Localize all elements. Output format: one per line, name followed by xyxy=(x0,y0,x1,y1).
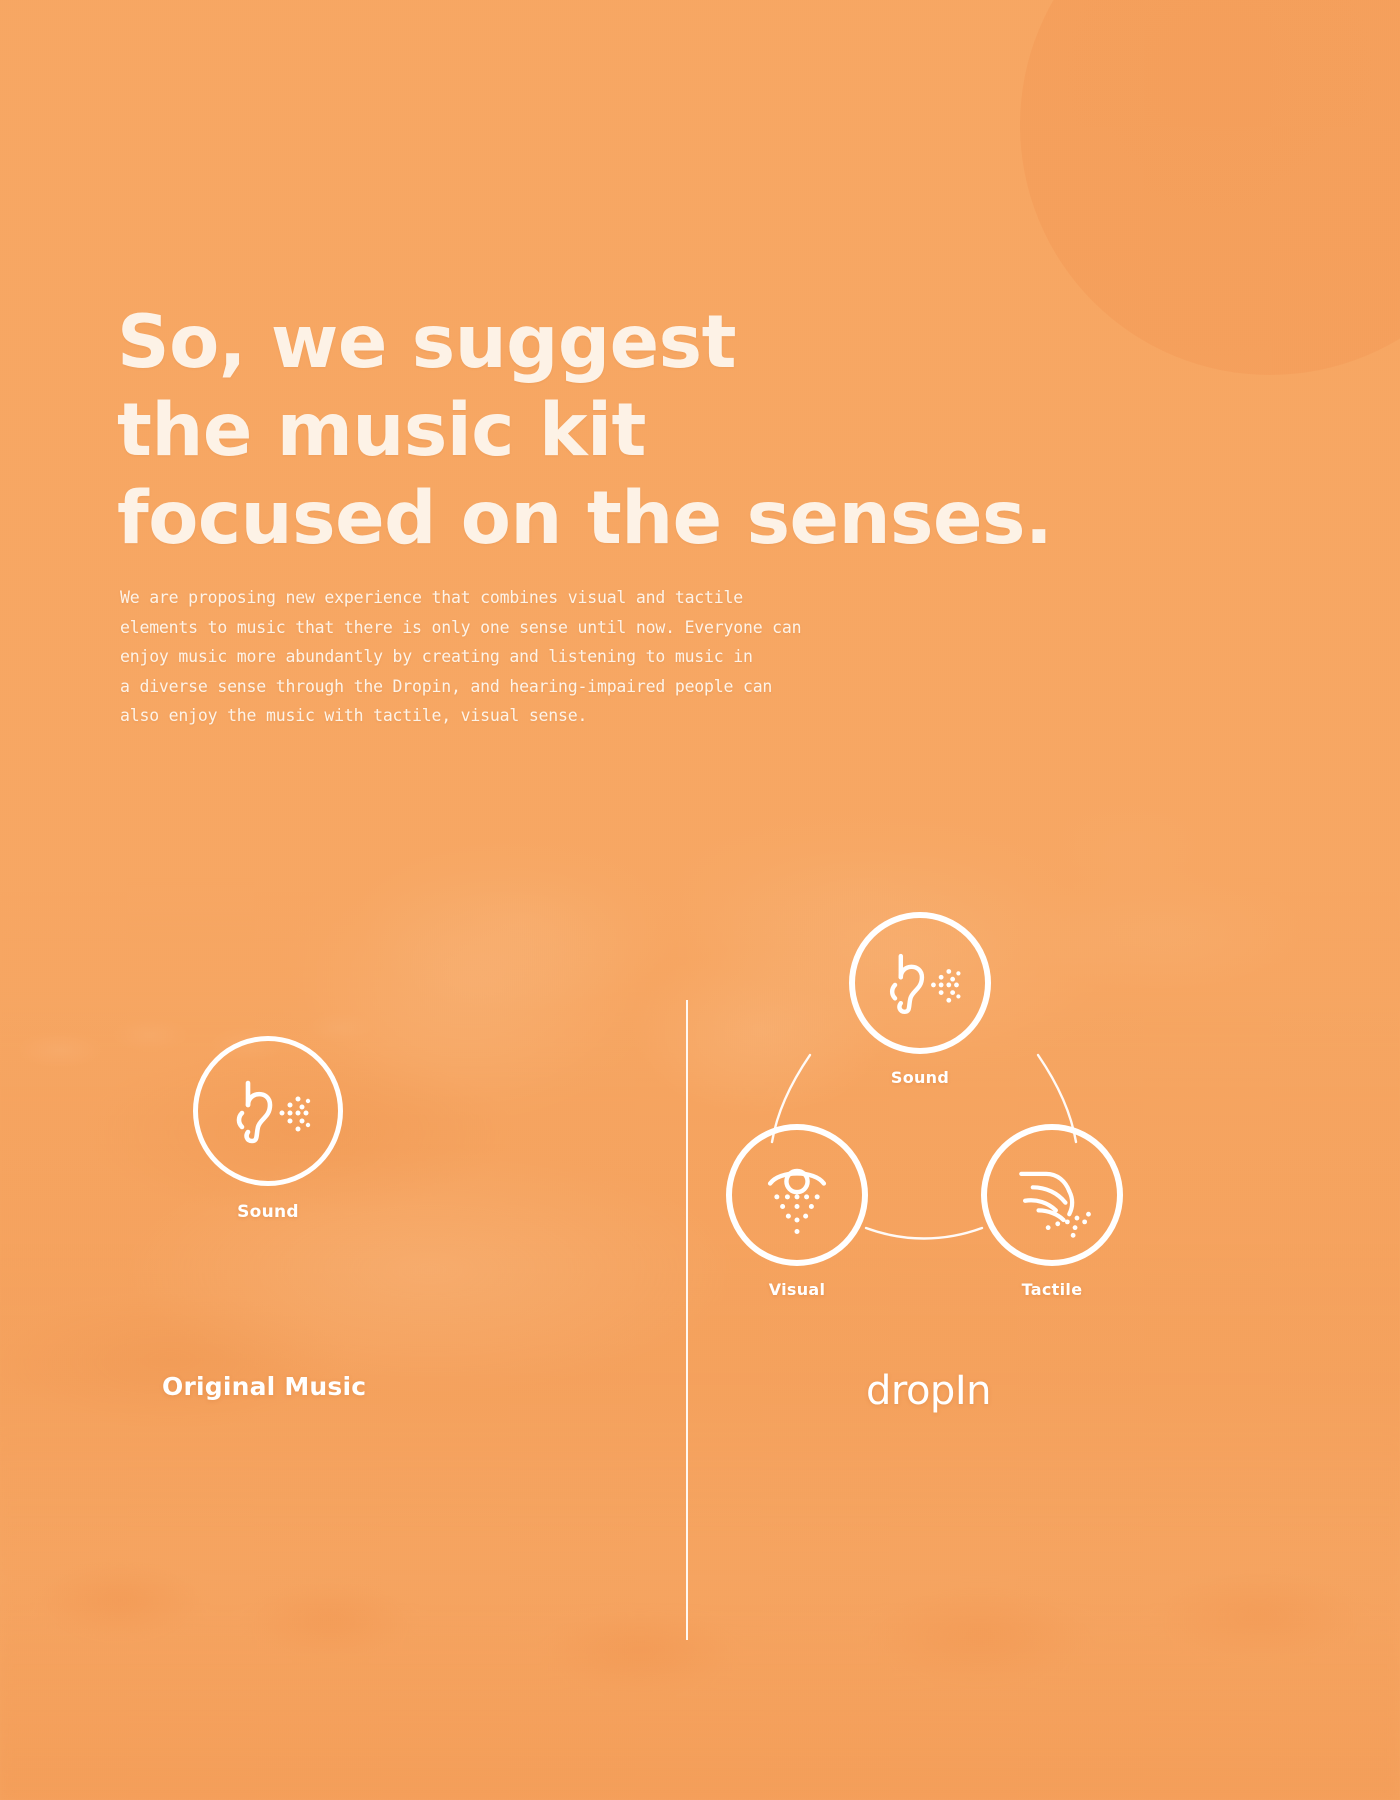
original-music-sound-node: Sound xyxy=(188,1036,348,1222)
sound-circle-right xyxy=(849,912,991,1054)
paragraph-line-4: a diverse sense through the Dropin, and … xyxy=(120,672,720,702)
dropin-tactile-node: Tactile xyxy=(977,1124,1127,1299)
visual-label: Visual xyxy=(722,1280,872,1299)
tactile-circle xyxy=(981,1124,1123,1266)
sound-circle-left xyxy=(193,1036,343,1186)
dropin-logo-part-1: drop xyxy=(866,1368,955,1414)
paragraph-line-5: also enjoy the music with tactile, visua… xyxy=(120,701,720,731)
hand-tactile-icon xyxy=(1004,1147,1100,1243)
tactile-label: Tactile xyxy=(977,1280,1127,1299)
paragraph-line-1: We are proposing new experience that com… xyxy=(120,583,720,613)
ear-sound-icon xyxy=(218,1061,318,1161)
dropin-visual-node: Visual xyxy=(722,1124,872,1299)
headline-line-2: the music kit xyxy=(117,387,1117,475)
headline-line-1: So, we suggest xyxy=(117,299,1117,387)
page-title: So, we suggest the music kit focused on … xyxy=(117,299,1117,563)
dropin-logo: drop I n xyxy=(866,1368,991,1414)
paragraph-line-2: elements to music that there is only one… xyxy=(120,613,720,643)
ear-sound-icon xyxy=(872,935,968,1031)
visual-circle xyxy=(726,1124,868,1266)
description-paragraph: We are proposing new experience that com… xyxy=(120,583,720,731)
original-music-caption: Original Music xyxy=(162,1372,366,1401)
dropin-sound-node: Sound xyxy=(845,912,995,1087)
headline-line-3: focused on the senses. xyxy=(117,475,1117,563)
sound-label-left: Sound xyxy=(188,1202,348,1222)
dropin-logo-part-2: I xyxy=(955,1368,966,1414)
sound-label-right: Sound xyxy=(845,1068,995,1087)
paragraph-line-3: enjoy music more abundantly by creating … xyxy=(120,642,720,672)
poster-canvas: So, we suggest the music kit focused on … xyxy=(0,0,1400,1800)
section-divider xyxy=(686,1000,688,1640)
dropin-logo-part-3: n xyxy=(966,1368,991,1414)
eye-visual-icon xyxy=(749,1147,845,1243)
